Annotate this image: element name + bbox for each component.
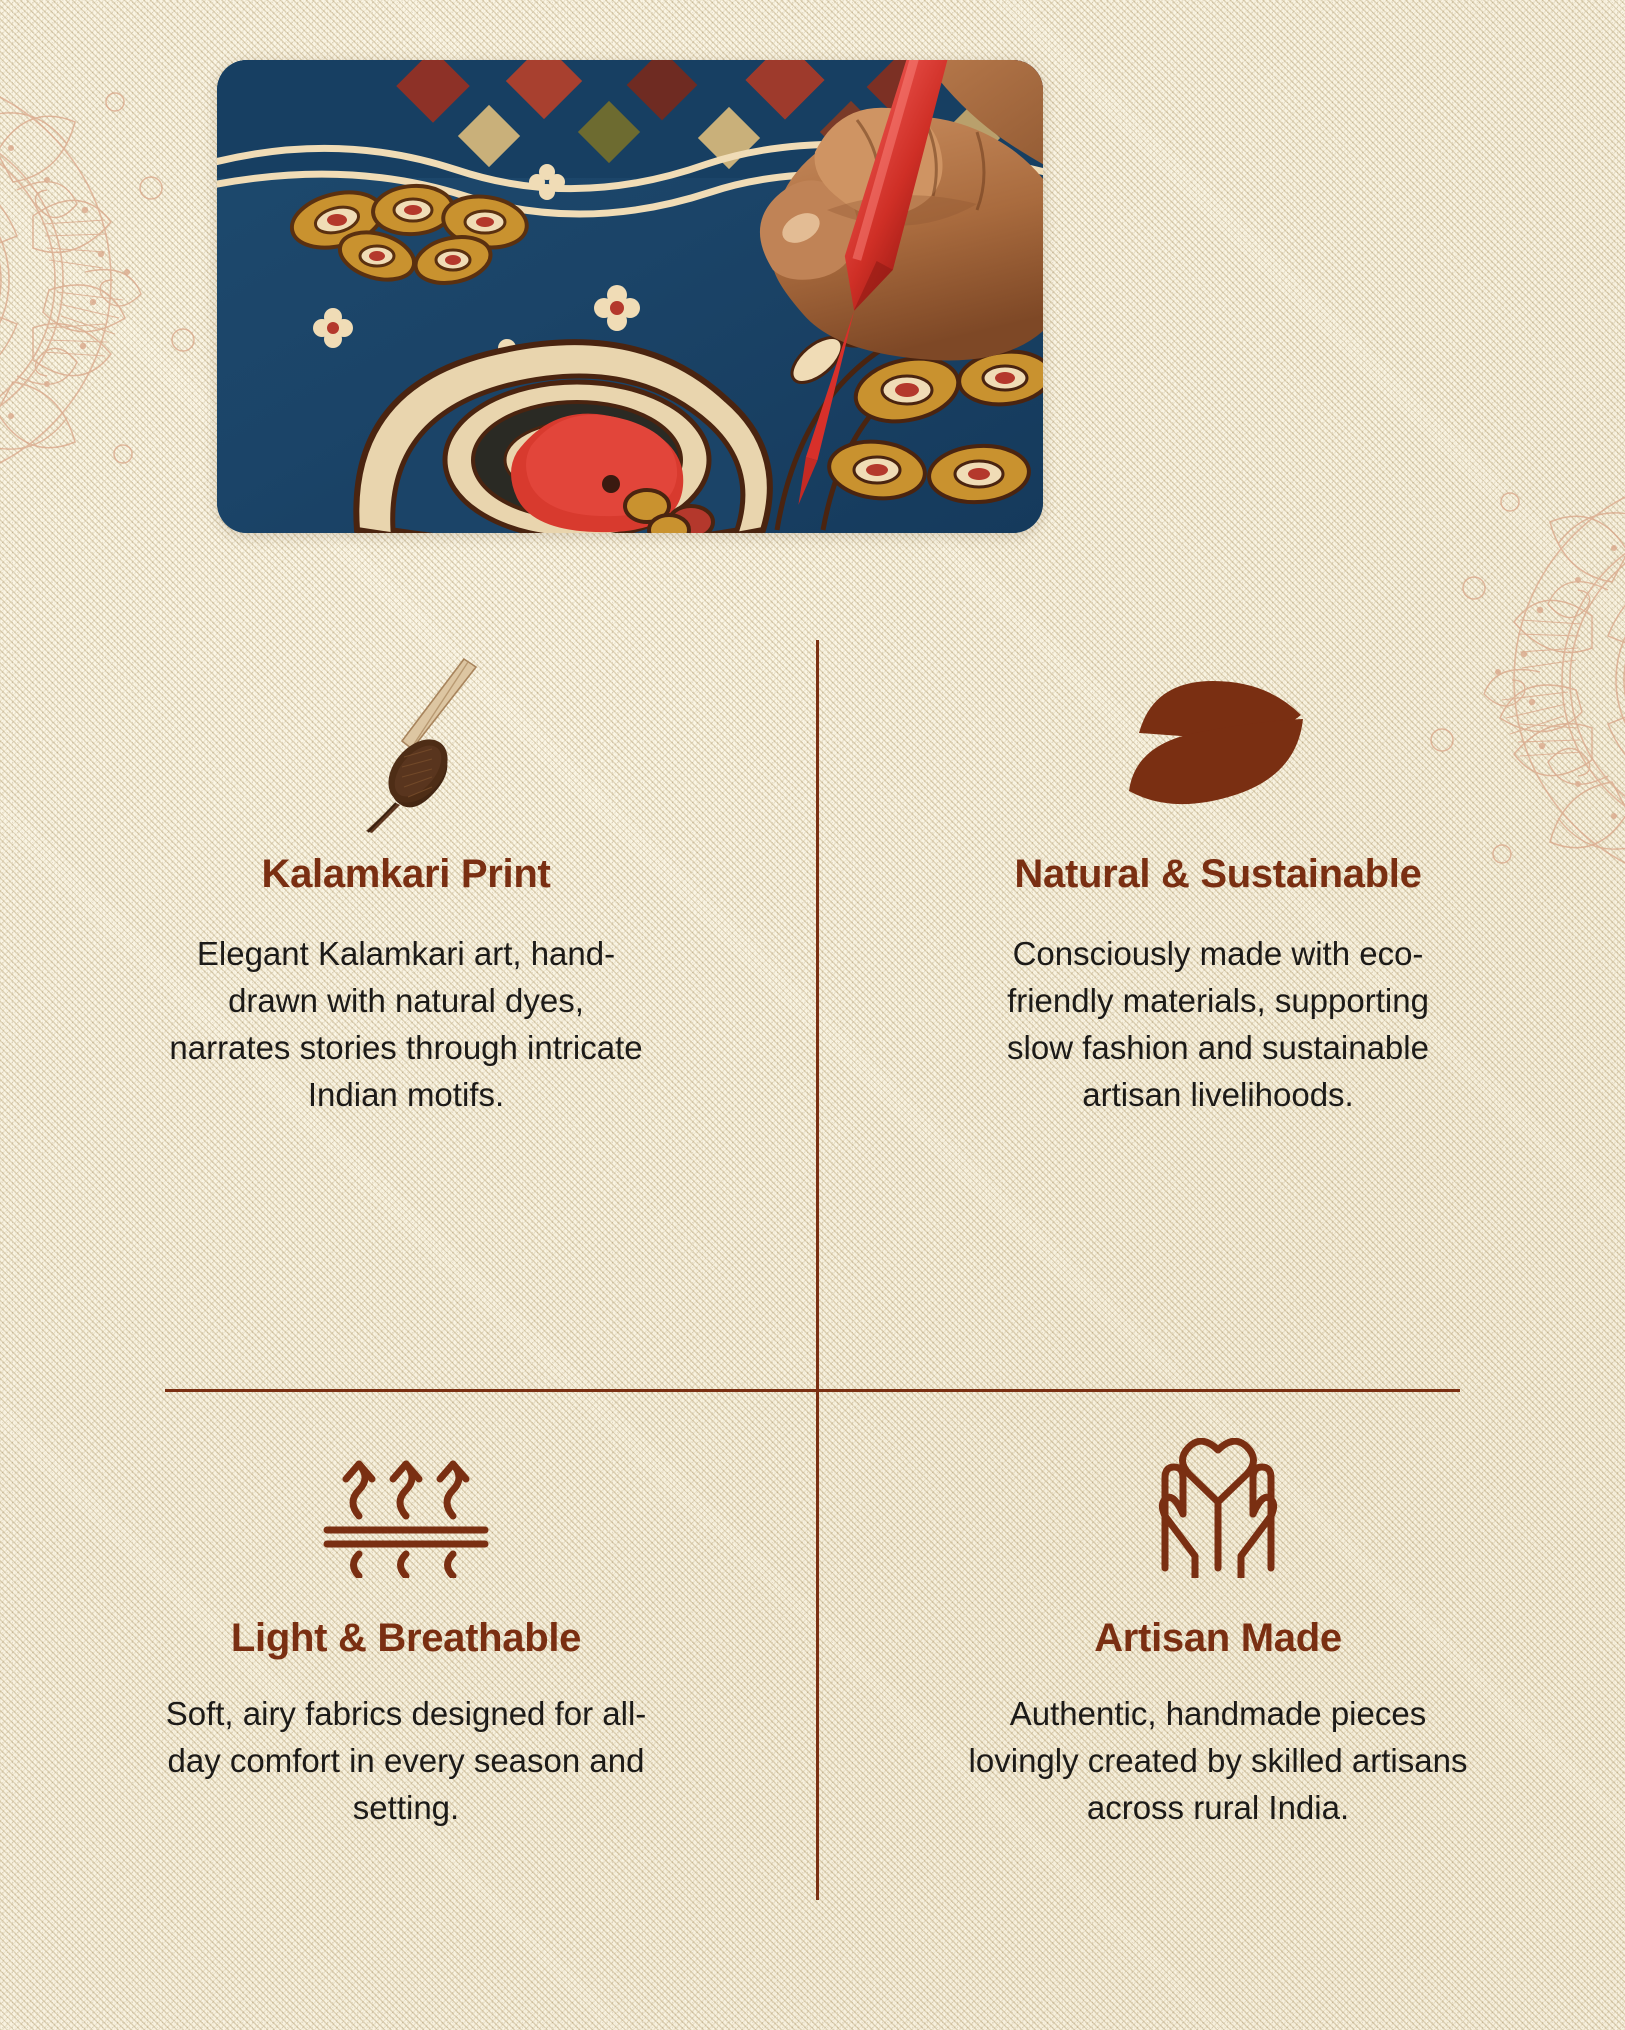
hero-image (217, 60, 1043, 533)
feature-title: Light & Breathable (95, 1616, 717, 1661)
hands-heart-icon-box (907, 1418, 1529, 1598)
feature-description: Soft, airy fabrics designed for all-day … (156, 1691, 656, 1832)
feature-description: Authentic, handmade pieces lovingly crea… (968, 1691, 1468, 1832)
horizontal-divider (165, 1389, 1460, 1392)
vertical-divider (816, 640, 819, 1900)
breathable-airflow-icon (321, 1438, 491, 1578)
poster-canvas: Kalamkari Print Elegant Kalamkari art, h… (0, 0, 1625, 2030)
leaf-icon-box (907, 640, 1529, 840)
kalamkari-painting-photo (217, 60, 1043, 533)
feature-row-bottom: Light & Breathable Soft, airy fabrics de… (0, 1390, 1625, 1910)
kalam-pen-icon-box (95, 640, 717, 840)
feature-card-kalamkari-print: Kalamkari Print Elegant Kalamkari art, h… (0, 620, 812, 1390)
feature-title: Artisan Made (907, 1616, 1529, 1661)
mandala-ornament-left (0, 40, 245, 520)
feature-card-natural-sustainable: Natural & Sustainable Consciously made w… (812, 620, 1624, 1390)
leaf-icon (1123, 675, 1313, 805)
feature-card-artisan-made: Artisan Made Authentic, handmade pieces … (812, 1390, 1624, 1910)
hands-heart-icon (1143, 1438, 1293, 1578)
feature-description: Elegant Kalamkari art, hand-drawn with n… (166, 931, 646, 1118)
feature-title: Natural & Sustainable (907, 852, 1529, 897)
feature-grid: Kalamkari Print Elegant Kalamkari art, h… (0, 620, 1625, 1910)
kalam-pen-icon (326, 645, 486, 835)
breathable-airflow-icon-box (95, 1418, 717, 1598)
feature-description: Consciously made with eco-friendly mater… (978, 931, 1458, 1118)
feature-row-top: Kalamkari Print Elegant Kalamkari art, h… (0, 620, 1625, 1390)
feature-card-light-breathable: Light & Breathable Soft, airy fabrics de… (0, 1390, 812, 1910)
feature-title: Kalamkari Print (95, 852, 717, 897)
